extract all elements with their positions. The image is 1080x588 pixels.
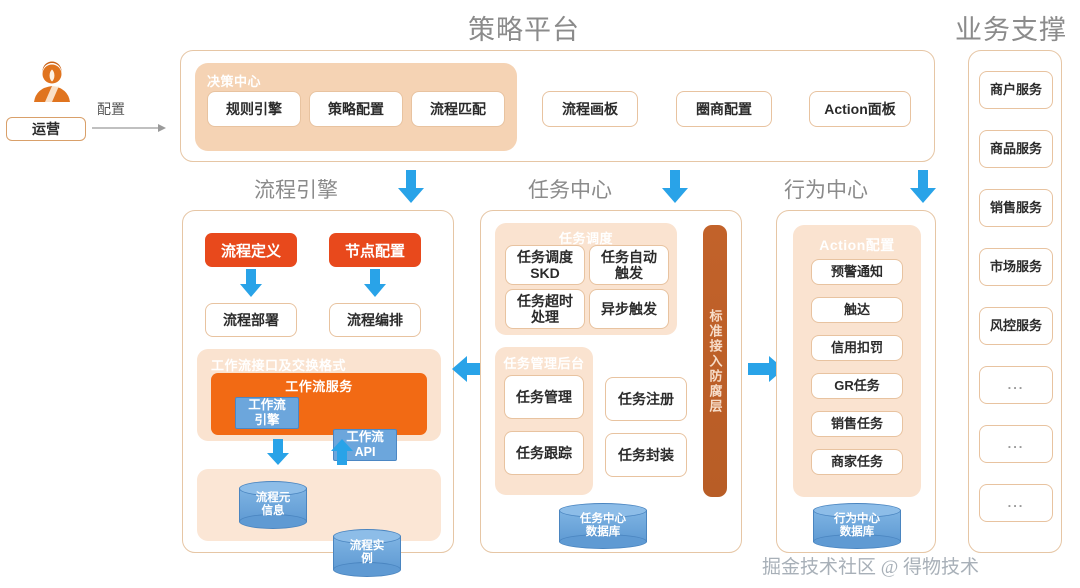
db-line2: 例 [361,553,373,566]
task-item-schedule-skd[interactable]: 任务调度 SKD [505,245,585,285]
arrow-down-icon [267,439,289,467]
task-schedule-group: 任务调度 任务调度 SKD 任务自动 触发 任务超时 处理 异步触发 [495,223,677,335]
task-item-tracking[interactable]: 任务跟踪 [504,431,584,475]
label-line2: SKD [530,265,560,281]
support-item-sales-service[interactable]: 销售服务 [979,189,1053,227]
decision-center-header: 决策中心 [207,71,261,90]
architecture-diagram: 策略平台 业务支撑 运营 配置 决策中心 规则引擎 策略配置 流程匹配 流程画板… [0,0,1080,588]
action-item-gr-task[interactable]: GR任务 [811,373,903,399]
decision-item-rule-engine[interactable]: 规则引擎 [207,91,301,127]
label-line1: 任务超时 [517,293,573,309]
support-item-product-service[interactable]: 商品服务 [979,130,1053,168]
task-item-management[interactable]: 任务管理 [504,375,584,419]
workflow-service-box: 工作流服务 工作流 引擎 工作流 API [211,373,427,435]
action-item-credit-penalty[interactable]: 信用扣罚 [811,335,903,361]
process-box-node-config[interactable]: 节点配置 [329,233,421,267]
workflow-service-header: 工作流服务 [211,376,427,395]
workflow-engine-line2: 引擎 [254,413,279,428]
db-line1: 行为中心 [834,513,880,526]
task-manage-group: 任务管理后台 任务管理 任务跟踪 [495,347,593,495]
arrow-down-icon [240,269,262,299]
arrow-down-icon [662,170,688,204]
decision-center-group: 决策中心 规则引擎 策略配置 流程匹配 [195,63,517,151]
edge-label-config: 配置 [97,99,125,119]
arrow-down-icon [398,170,424,204]
section-title-behavior-center: 行为中心 [784,174,868,204]
behavior-center-panel: Action配置 预警通知 触达 信用扣罚 GR任务 销售任务 商家任务 行为中… [776,210,936,553]
workflow-api-line2: API [355,445,376,460]
db-line2: 信息 [262,505,285,518]
action-item-alert-notify[interactable]: 预警通知 [811,259,903,285]
support-item-merchant-service[interactable]: 商户服务 [979,71,1053,109]
label-line1: 任务调度 [517,249,573,265]
label-line1: 任务自动 [601,249,657,265]
anti-corruption-layer-bar: 标准接入防腐层 [703,225,727,497]
task-center-panel: 任务调度 任务调度 SKD 任务自动 触发 任务超时 处理 异步触发 任务管理后… [480,210,742,553]
process-box-flow-orchestration[interactable]: 流程编排 [329,303,421,337]
workflow-engine-card[interactable]: 工作流 引擎 [235,397,299,429]
database-behavior-center: 行为中心 数据库 [813,503,901,549]
platform-panel-flow-canvas[interactable]: 流程画板 [542,91,638,127]
support-item-more-2[interactable]: ... [979,425,1053,463]
process-box-flow-definition[interactable]: 流程定义 [205,233,297,267]
section-title-task-center: 任务中心 [528,174,612,204]
platform-panel: 决策中心 规则引擎 策略配置 流程匹配 流程画板 圈商配置 Action面板 [180,50,935,162]
task-item-async-trigger[interactable]: 异步触发 [589,289,669,329]
page-title: 策略平台 [468,8,580,47]
workflow-interface-header: 工作流接口及交换格式 [211,355,346,374]
action-item-reach[interactable]: 触达 [811,297,903,323]
task-item-registration[interactable]: 任务注册 [605,377,687,421]
action-config-group: Action配置 预警通知 触达 信用扣罚 GR任务 销售任务 商家任务 [793,225,921,497]
platform-panel-merchant-config[interactable]: 圈商配置 [676,91,772,127]
db-line1: 流程元 [256,492,291,505]
business-support-panel: 商户服务 商品服务 销售服务 市场服务 风控服务 ... ... ... [968,50,1062,553]
support-item-more-3[interactable]: ... [979,484,1053,522]
person-icon [14,62,90,102]
process-engine-panel: 流程定义 节点配置 流程部署 流程编排 工作流接口及交换格式 工作流服务 工作流… [182,210,454,553]
action-item-sales-task[interactable]: 销售任务 [811,411,903,437]
support-item-risk-service[interactable]: 风控服务 [979,307,1053,345]
section-title-process-engine: 流程引擎 [254,174,338,204]
decision-item-policy-config[interactable]: 策略配置 [309,91,403,127]
label-line2: 处理 [531,309,559,325]
decision-item-flow-match[interactable]: 流程匹配 [411,91,505,127]
db-line1: 任务中心 [580,513,626,526]
db-line2: 数据库 [586,526,621,539]
task-item-encapsulation[interactable]: 任务封装 [605,433,687,477]
process-database-group: 流程元 信息 流程实 例 [197,469,441,541]
task-manage-header: 任务管理后台 [495,353,593,372]
database-flow-metadata: 流程元 信息 [239,481,307,529]
task-item-timeout-handling[interactable]: 任务超时 处理 [505,289,585,329]
support-item-market-service[interactable]: 市场服务 [979,248,1053,286]
arrow-down-icon [364,269,386,299]
platform-panel-action-panel[interactable]: Action面板 [809,91,911,127]
label-line2: 触发 [615,265,643,281]
support-item-more-1[interactable]: ... [979,366,1053,404]
arrow-down-icon [910,170,936,204]
action-config-header: Action配置 [793,235,921,255]
db-line1: 流程实 [350,540,385,553]
db-line2: 数据库 [840,526,875,539]
database-flow-instance: 流程实 例 [333,529,401,577]
actor-label: 运营 [6,117,86,141]
database-task-center: 任务中心 数据库 [559,503,647,549]
arrow-right-icon [92,122,168,134]
workflow-engine-line1: 工作流 [248,398,286,413]
arrow-up-icon [331,439,353,467]
workflow-interface-group: 工作流接口及交换格式 工作流服务 工作流 引擎 工作流 API [197,349,441,441]
action-item-merchant-task[interactable]: 商家任务 [811,449,903,475]
business-support-title: 业务支撑 [955,8,1067,47]
task-item-auto-trigger[interactable]: 任务自动 触发 [589,245,669,285]
watermark: 掘金技术社区 @ 得物技术 [762,552,979,579]
process-box-flow-deploy[interactable]: 流程部署 [205,303,297,337]
